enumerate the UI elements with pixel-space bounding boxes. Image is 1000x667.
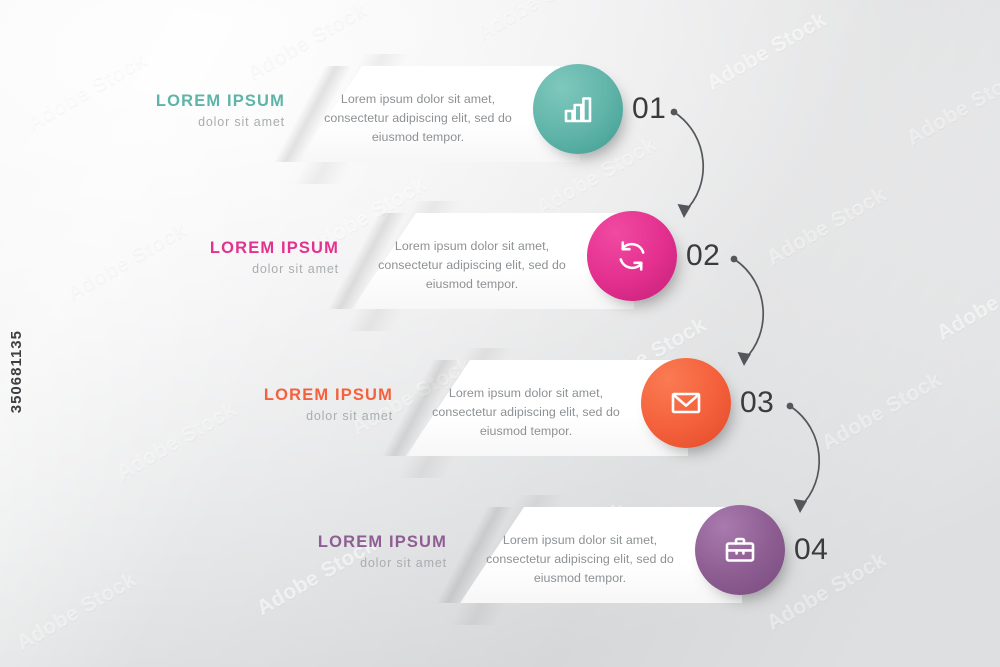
briefcase-icon xyxy=(723,533,757,567)
step-title-04: LOREM IPSUM xyxy=(242,533,447,552)
step-body-04: Lorem ipsum dolor sit amet, consectetur … xyxy=(482,531,678,588)
step-icon-disc-04[interactable] xyxy=(695,505,785,595)
step-row-04: LOREM IPSUM dolor sit amet Lorem ipsum d… xyxy=(0,507,1000,603)
step-headings-02: LOREM IPSUM dolor sit amet xyxy=(134,239,339,276)
step-icon-disc-02[interactable] xyxy=(587,211,677,301)
step-number-02: 02 xyxy=(686,239,720,273)
step-number-04: 04 xyxy=(794,533,828,567)
step-body-03: Lorem ipsum dolor sit amet, consectetur … xyxy=(428,384,624,441)
envelope-icon xyxy=(669,386,703,420)
step-headings-01: LOREM IPSUM dolor sit amet xyxy=(80,92,285,129)
step-headings-03: LOREM IPSUM dolor sit amet xyxy=(188,386,393,423)
step-subtitle-03: dolor sit amet xyxy=(188,409,393,423)
step-title-02: LOREM IPSUM xyxy=(134,239,339,258)
step-headings-04: LOREM IPSUM dolor sit amet xyxy=(242,533,447,570)
infographic-canvas: Adobe Stock Adobe Stock Adobe Stock Adob… xyxy=(0,0,1000,667)
step-row-02: LOREM IPSUM dolor sit amet Lorem ipsum d… xyxy=(0,213,1000,309)
step-subtitle-04: dolor sit amet xyxy=(242,556,447,570)
step-subtitle-02: dolor sit amet xyxy=(134,262,339,276)
step-body-01: Lorem ipsum dolor sit amet, consectetur … xyxy=(320,90,516,147)
step-subtitle-01: dolor sit amet xyxy=(80,115,285,129)
watermark-tile: Adobe Stock xyxy=(473,0,601,46)
step-icon-disc-03[interactable] xyxy=(641,358,731,448)
step-title-03: LOREM IPSUM xyxy=(188,386,393,405)
step-body-02: Lorem ipsum dolor sit amet, consectetur … xyxy=(374,237,570,294)
step-number-01: 01 xyxy=(632,92,666,126)
step-title-01: LOREM IPSUM xyxy=(80,92,285,111)
bar-chart-icon xyxy=(561,92,595,126)
refresh-icon xyxy=(614,238,650,274)
step-row-03: LOREM IPSUM dolor sit amet Lorem ipsum d… xyxy=(0,360,1000,456)
step-row-01: LOREM IPSUM dolor sit amet Lorem ipsum d… xyxy=(0,66,1000,162)
step-number-03: 03 xyxy=(740,386,774,420)
step-icon-disc-01[interactable] xyxy=(533,64,623,154)
